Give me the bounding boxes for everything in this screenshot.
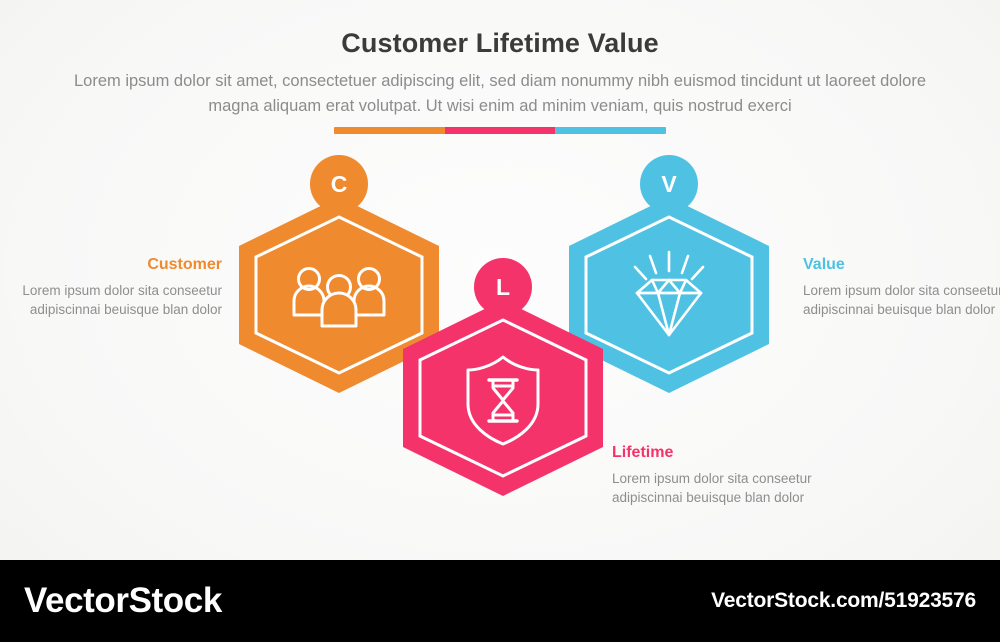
watermark-footer: VectorStock VectorStock.com/51923576	[0, 560, 1000, 642]
node-lifetime[interactable]: L	[396, 258, 610, 472]
divider-segment-orange	[334, 127, 445, 134]
label-lifetime: Lifetime	[612, 444, 812, 462]
header: Customer Lifetime Value Lorem ipsum dolo…	[0, 0, 1000, 119]
badge-letter: L	[496, 274, 510, 301]
description-customer: Lorem ipsum dolor sita conseetur adipisc…	[22, 281, 222, 319]
infographic-canvas: Customer Lifetime Value Lorem ipsum dolo…	[0, 0, 1000, 642]
divider-segment-blue	[555, 127, 666, 134]
text-block-customer: Customer Lorem ipsum dolor sita conseetu…	[22, 256, 222, 319]
text-block-lifetime: Lifetime Lorem ipsum dolor sita conseetu…	[612, 444, 812, 507]
vectorstock-logo: VectorStock	[24, 581, 222, 621]
label-value: Value	[803, 256, 1000, 274]
vectorstock-url: VectorStock.com/51923576	[711, 589, 976, 613]
badge-letter: V	[661, 171, 676, 198]
tricolor-divider	[334, 127, 666, 134]
description-lifetime: Lorem ipsum dolor sita conseetur adipisc…	[612, 469, 812, 507]
hexagon-lifetime	[396, 300, 610, 496]
text-block-value: Value Lorem ipsum dolor sita conseetur a…	[803, 256, 1000, 319]
label-customer: Customer	[22, 256, 222, 274]
badge-lifetime: L	[474, 258, 532, 316]
description-value: Lorem ipsum dolor sita conseetur adipisc…	[803, 281, 1000, 319]
badge-customer: C	[310, 155, 368, 213]
badge-letter: C	[331, 171, 348, 198]
divider-segment-pink	[445, 127, 556, 134]
page-subtitle: Lorem ipsum dolor sit amet, consectetuer…	[60, 69, 940, 119]
badge-value: V	[640, 155, 698, 213]
page-title: Customer Lifetime Value	[0, 0, 1000, 59]
